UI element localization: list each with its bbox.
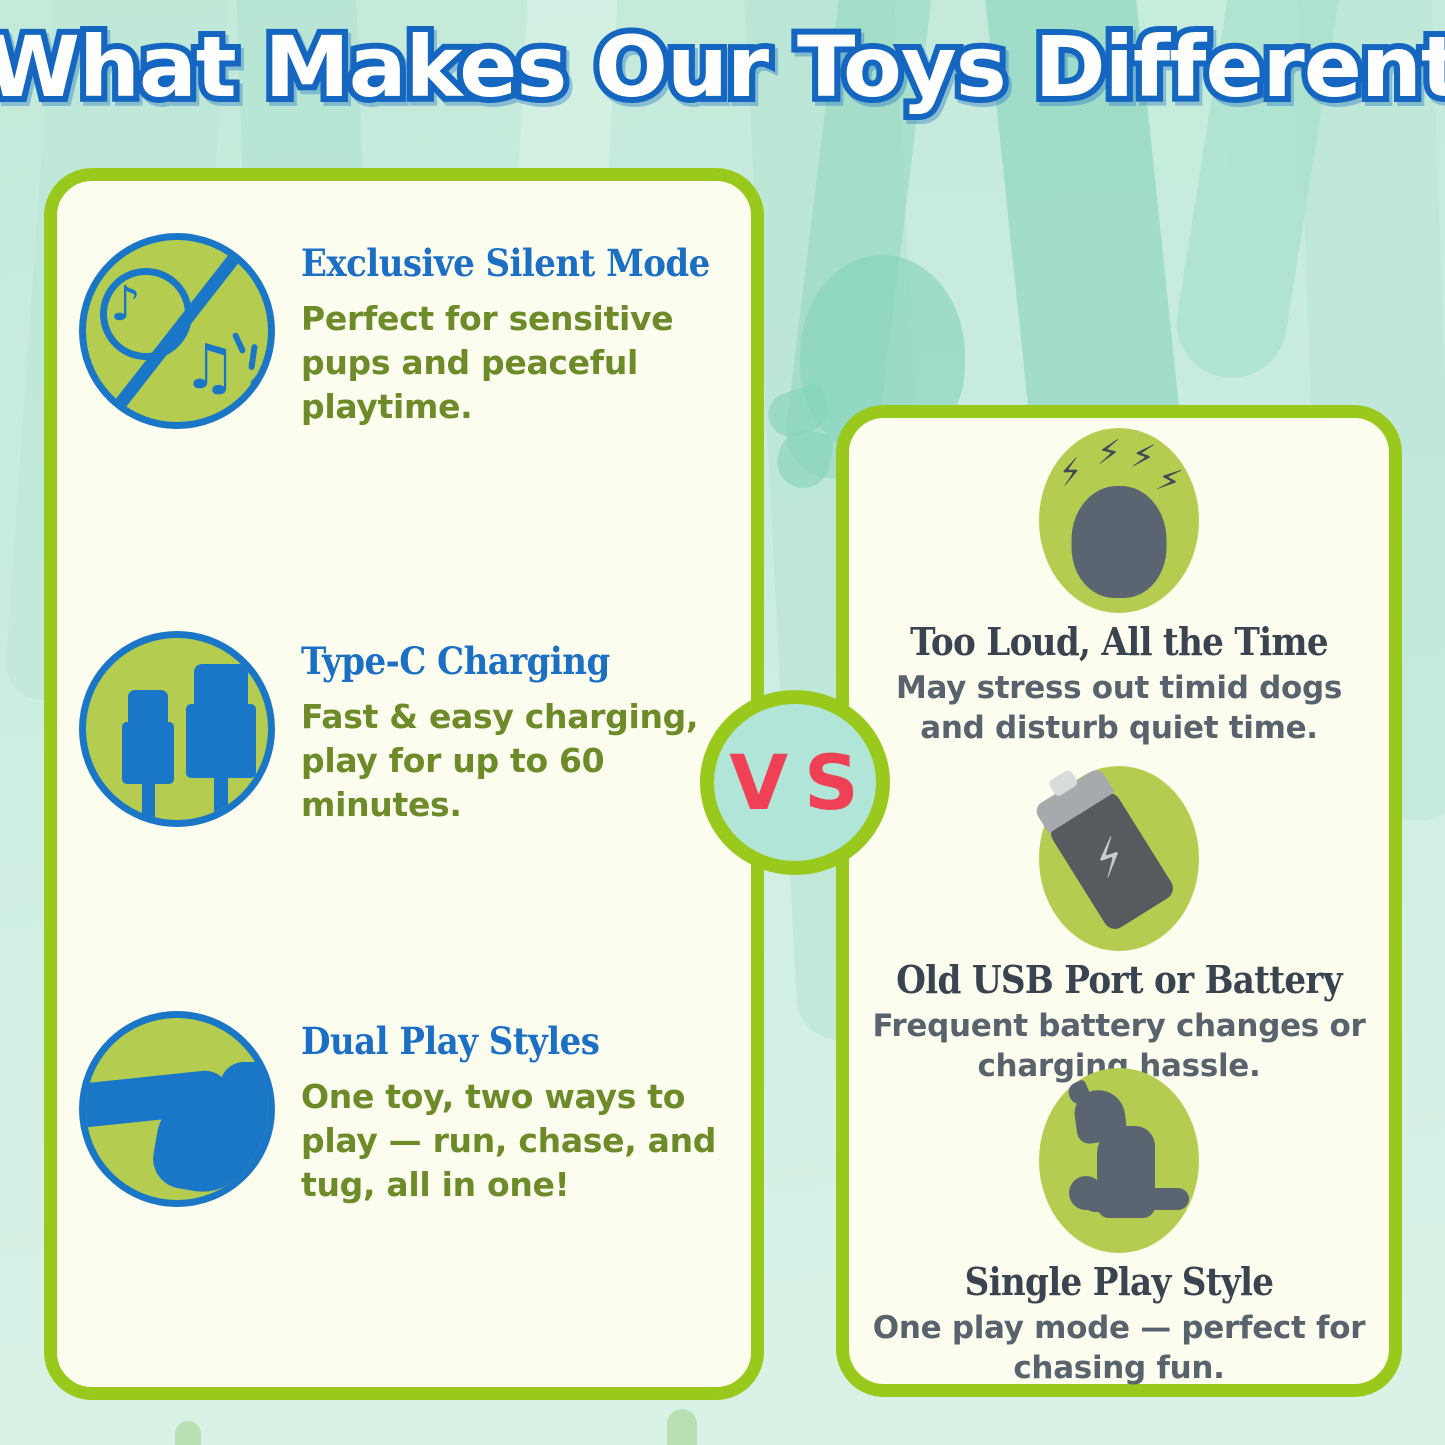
globe-landmass <box>220 1062 275 1182</box>
feature-body: One toy, two ways to play — run, chase, … <box>301 1075 721 1208</box>
feature-row: Dual Play Styles One toy, two ways to pl… <box>79 1011 721 1208</box>
usb-type-c-cable-icon <box>79 631 275 827</box>
silent-mode-icon: ♪ ♫ <box>79 233 275 429</box>
battery-icon: ⚡ <box>1039 766 1199 951</box>
vs-badge: V S <box>700 690 890 875</box>
pros-card: ♪ ♫ Exclusive Silent Mode Perfect for se… <box>44 168 764 1400</box>
usb-connector-head <box>128 690 168 724</box>
usb-connector-body <box>186 704 256 778</box>
head-silhouette <box>1072 486 1167 598</box>
feature-row: Type-C Charging Fast & easy charging, pl… <box>79 631 721 828</box>
coral-plant <box>175 1421 201 1445</box>
dog-with-ball-icon <box>1039 1068 1199 1253</box>
noise-zap: ⚡ <box>1153 461 1185 500</box>
lightning-bolt-icon: ⚡ <box>1084 830 1136 886</box>
con-item: ⚡ ⚡ ⚡ ⚡ Too Loud, All the Time May stres… <box>849 428 1389 749</box>
con-body: May stress out timid dogs and disturb qu… <box>849 668 1389 749</box>
con-heading: Too Loud, All the Time <box>876 619 1362 664</box>
con-heading: Single Play Style <box>876 1259 1362 1304</box>
usb-connector-body <box>122 722 174 784</box>
battery-shell: ⚡ <box>1047 789 1178 934</box>
globe-dual-play-icon <box>79 1011 275 1207</box>
feature-row: ♪ ♫ Exclusive Silent Mode Perfect for se… <box>79 233 745 430</box>
loud-noise-head-icon: ⚡ ⚡ ⚡ ⚡ <box>1039 428 1199 613</box>
usb-connector-head <box>194 664 248 706</box>
vs-letter-s: S <box>804 738 861 827</box>
con-item: ⚡ Old USB Port or Battery Frequent batte… <box>849 766 1389 1087</box>
feature-heading: Type-C Charging <box>301 639 687 683</box>
noise-zap: ⚡ <box>1129 439 1157 476</box>
con-item: Single Play Style One play mode — perfec… <box>849 1068 1389 1389</box>
feature-heading: Exclusive Silent Mode <box>301 241 710 285</box>
page-title: What Makes Our Toys Different <box>0 18 1445 116</box>
feature-body: Fast & easy charging, play for up to 60 … <box>301 695 721 828</box>
cons-card: ⚡ ⚡ ⚡ ⚡ Too Loud, All the Time May stres… <box>836 405 1402 1397</box>
muted-note-glyph: ♪ <box>110 280 141 328</box>
feature-body: Perfect for sensitive pups and peaceful … <box>301 297 721 430</box>
noise-zap: ⚡ <box>1055 454 1086 493</box>
vs-badge-text: V S <box>700 690 890 875</box>
noise-zap: ⚡ <box>1097 436 1121 470</box>
feature-heading: Dual Play Styles <box>301 1019 687 1063</box>
feature-text: Dual Play Styles One toy, two ways to pl… <box>301 1011 721 1208</box>
usb-cord <box>142 782 155 827</box>
feature-text: Type-C Charging Fast & easy charging, pl… <box>301 631 721 828</box>
vs-letter-v: V <box>729 738 790 827</box>
dog-hind-leg <box>1143 1188 1189 1210</box>
con-body: One play mode — perfect for chasing fun. <box>849 1308 1389 1389</box>
feature-text: Exclusive Silent Mode Perfect for sensit… <box>301 233 745 430</box>
loud-note-glyph: ♫ <box>182 336 238 398</box>
con-heading: Old USB Port or Battery <box>876 957 1362 1002</box>
usb-cord <box>214 776 228 827</box>
sound-wave <box>248 344 258 371</box>
coral-plant <box>667 1409 697 1445</box>
ball-shape <box>1069 1176 1103 1210</box>
infographic-canvas: What Makes Our Toys Different ♪ ♫ Exclus… <box>0 0 1445 1445</box>
